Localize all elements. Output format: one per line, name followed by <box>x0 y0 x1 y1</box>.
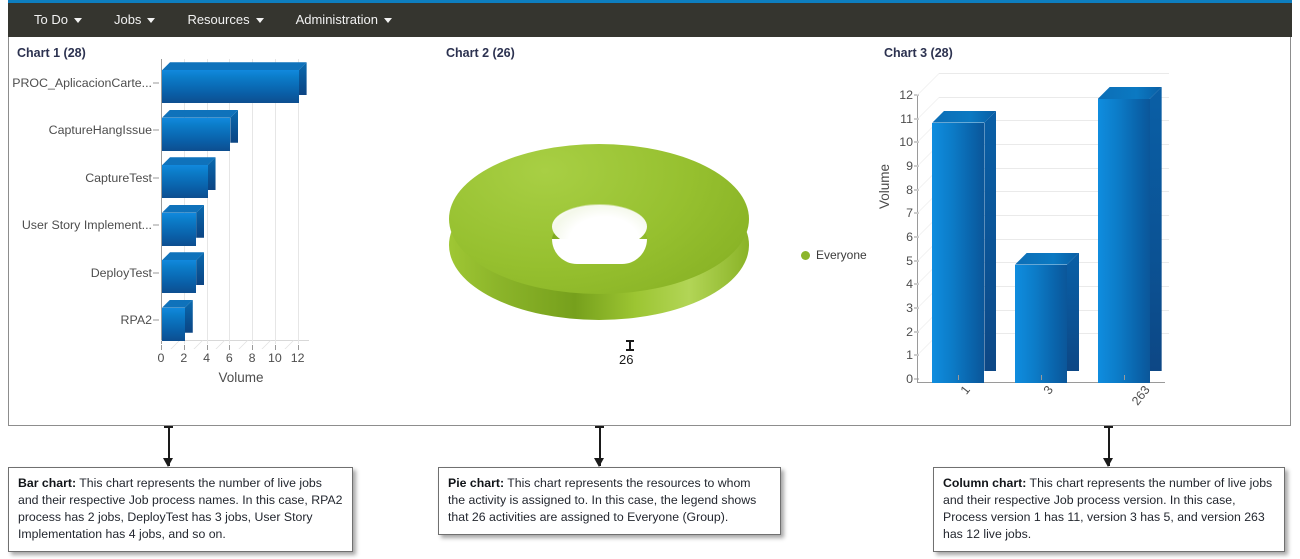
caption-bar-chart-lead: Bar chart: <box>18 476 76 490</box>
column-series-point[interactable] <box>932 111 996 383</box>
axis-tick <box>153 225 159 226</box>
bar-chart-x-tick-labels: 024681012 <box>161 351 331 369</box>
connector-arrow-pie-chart <box>593 426 606 466</box>
chevron-down-icon <box>147 18 155 23</box>
pie-data-label-leader-cap-bottom <box>626 349 634 351</box>
bar-series-point[interactable] <box>162 300 193 341</box>
bar-chart-plot-area <box>161 59 321 349</box>
axis-tick <box>958 375 959 380</box>
bar-category-label: PROC_AplicacionCarte... <box>12 76 152 90</box>
axis-tick-label: 7 <box>891 206 913 220</box>
axis-tick-label: 3 <box>891 301 913 315</box>
caption-column-chart-lead: Column chart: <box>943 476 1026 490</box>
nav-item-resources[interactable]: Resources <box>171 3 279 37</box>
bar-series-point[interactable] <box>162 205 204 246</box>
nav-item-jobs[interactable]: Jobs <box>98 3 171 37</box>
axis-tick-label: 9 <box>891 159 913 173</box>
axis-tick <box>161 345 162 350</box>
axis-tick-label: 1 <box>891 348 913 362</box>
caption-column-chart: Column chart: This chart represents the … <box>933 467 1285 552</box>
gridline-floor <box>261 340 279 349</box>
bar-top-face <box>162 110 238 118</box>
gridline-floor <box>216 340 234 349</box>
bar-chart[interactable]: PROC_AplicacionCarte...CaptureHangIssueC… <box>9 59 441 419</box>
axis-tick <box>153 177 159 178</box>
pie-chart-donut: 26 <box>449 144 769 334</box>
column-front-face <box>1015 265 1067 383</box>
chart1-title: Chart 1 (28) <box>17 46 86 60</box>
caption-pie-chart: Pie chart: This chart represents the res… <box>438 467 781 535</box>
axis-tick <box>298 345 299 350</box>
axis-tick <box>1124 375 1125 380</box>
column-side-face <box>1150 87 1162 371</box>
column-category-label: 263 <box>1129 383 1153 408</box>
chevron-down-icon <box>384 18 392 23</box>
axis-tick-label: 0 <box>891 372 913 386</box>
axis-tick-label: 10 <box>891 135 913 149</box>
nav-item-label: Jobs <box>114 3 141 37</box>
column-chart-plot-area <box>917 67 1167 379</box>
axis-tick-label: 8 <box>249 351 256 365</box>
bar-series-point[interactable] <box>162 157 216 198</box>
column-front-face <box>932 123 984 383</box>
bar-category-label: User Story Implement... <box>22 218 152 232</box>
axis-tick-label: 6 <box>891 230 913 244</box>
chart3-title: Chart 3 (28) <box>884 46 953 60</box>
column-series-point[interactable] <box>1015 253 1079 383</box>
axis-tick-label: 11 <box>891 112 913 126</box>
gridline-floor <box>239 340 257 349</box>
axis-tick <box>252 345 253 350</box>
column-category-label: 3 <box>1041 383 1056 397</box>
column-category-label: 1 <box>958 383 973 397</box>
axis-tick-label: 10 <box>268 351 282 365</box>
gridline-floor <box>170 340 188 349</box>
bar-series-point[interactable] <box>162 62 307 103</box>
bar-category-label: DeployTest <box>91 266 152 280</box>
chevron-down-icon <box>74 18 82 23</box>
axis-tick-label: 6 <box>226 351 233 365</box>
gridline-floor <box>193 340 211 349</box>
pie-hole-mask <box>552 239 647 264</box>
bar-top-face <box>162 157 216 165</box>
axis-tick-label: 12 <box>291 351 305 365</box>
column-chart[interactable]: Volume 0123456789101112 13263 <box>881 59 1292 419</box>
axis-tick <box>153 320 159 321</box>
connector-arrow-column-chart <box>1102 426 1115 466</box>
axis-tick-label: 4 <box>203 351 210 365</box>
legend-swatch-icon <box>801 251 810 260</box>
bar-front-face <box>162 118 230 151</box>
axis-tick <box>229 345 230 350</box>
bar-chart-x-axis-title: Volume <box>161 370 321 385</box>
nav-item-label: Resources <box>187 3 249 37</box>
axis-tick <box>153 272 159 273</box>
axis-tick <box>1041 375 1042 380</box>
bar-front-face <box>162 70 299 103</box>
pie-chart-legend[interactable]: Everyone <box>801 248 867 262</box>
chart2-title: Chart 2 (26) <box>446 46 515 60</box>
column-front-face <box>1098 99 1150 383</box>
axis-tick-label: 5 <box>891 254 913 268</box>
column-side-face <box>1067 253 1079 371</box>
bar-category-label: RPA2 <box>121 313 152 327</box>
nav-item-to-do[interactable]: To Do <box>18 3 98 37</box>
axis-tick <box>275 345 276 350</box>
bar-front-face <box>162 165 208 198</box>
chevron-down-icon <box>256 18 264 23</box>
bar-chart-category-labels: PROC_AplicacionCarte...CaptureHangIssueC… <box>9 59 159 349</box>
axis-tick <box>184 345 185 350</box>
bar-category-label: CaptureTest <box>85 171 152 185</box>
page-root: To DoJobsResourcesAdministration Chart 1… <box>0 0 1300 559</box>
pie-chart[interactable]: 26 Everyone <box>441 59 881 419</box>
charts-panel: Chart 1 (28) Chart 2 (26) Chart 3 (28) P… <box>8 37 1291 426</box>
bar-front-face <box>162 260 196 293</box>
legend-label-everyone: Everyone <box>816 248 867 262</box>
gridline <box>939 73 1169 74</box>
axis-tick-label: 4 <box>891 277 913 291</box>
bar-series-point[interactable] <box>162 252 204 293</box>
axis-tick-label: 2 <box>891 325 913 339</box>
nav-item-administration[interactable]: Administration <box>280 3 408 37</box>
bar-top-face <box>162 62 307 70</box>
nav-item-label: To Do <box>34 3 68 37</box>
caption-pie-chart-lead: Pie chart: <box>448 476 504 490</box>
bar-front-face <box>162 308 185 341</box>
column-chart-y-axis-title: Volume <box>877 164 892 209</box>
bar-front-face <box>162 213 196 246</box>
axis-tick <box>153 130 159 131</box>
column-series-point[interactable] <box>1098 87 1162 383</box>
column-side-face <box>984 111 996 371</box>
caption-bar-chart: Bar chart: This chart represents the num… <box>8 467 353 552</box>
axis-tick-label: 12 <box>891 88 913 102</box>
pie-data-label: 26 <box>619 352 633 367</box>
nav-item-label: Administration <box>296 3 378 37</box>
bar-category-label: CaptureHangIssue <box>49 123 152 137</box>
bar-series-point[interactable] <box>162 110 238 151</box>
gridline-floor <box>284 340 302 349</box>
axis-tick-label: 8 <box>891 183 913 197</box>
axis-tick <box>153 82 159 83</box>
connector-arrow-bar-chart <box>162 426 175 466</box>
axis-tick-label: 0 <box>158 351 165 365</box>
axis-tick-label: 2 <box>180 351 187 365</box>
navigation-menu: To DoJobsResourcesAdministration <box>18 3 408 37</box>
axis-tick <box>207 345 208 350</box>
